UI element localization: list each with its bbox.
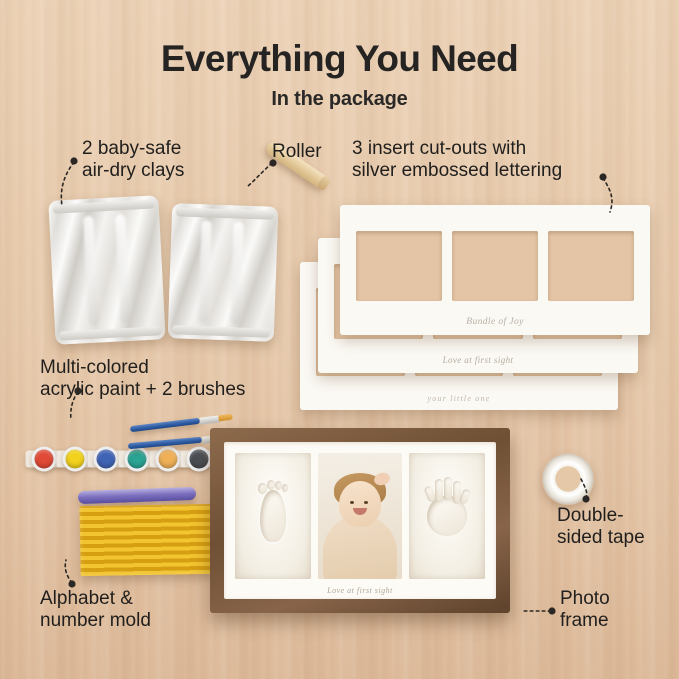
connector-dot-inserts xyxy=(599,173,606,180)
double-sided-tape-roll xyxy=(542,453,594,505)
paint-pot-strip xyxy=(28,443,214,474)
footprint-impression xyxy=(260,490,286,542)
connector-dot-clay xyxy=(70,157,77,164)
connector-alphabet xyxy=(65,560,72,583)
callout-label-roller: Roller xyxy=(272,141,322,163)
callout-label-clay: 2 baby-safe air-dry clays xyxy=(82,138,184,182)
paint-pot-blue xyxy=(90,443,121,474)
handprint-impression xyxy=(427,496,467,536)
photo-frame: Love at first sight xyxy=(210,428,510,613)
connector-roller xyxy=(248,163,272,186)
callout-label-paint: Multi-colored acrylic paint + 2 brushes xyxy=(40,357,245,401)
paint-pot-orange xyxy=(152,443,183,474)
page-subtitle: In the package xyxy=(0,88,679,111)
paint-pot-red xyxy=(28,443,59,474)
infographic-canvas: Everything You Need In the package your … xyxy=(0,0,679,679)
insert-cutout-1: Bundle of Joy xyxy=(340,205,650,335)
alphabet-number-mold xyxy=(79,504,214,576)
page-title: Everything You Need xyxy=(0,40,679,77)
clay-pouch-1 xyxy=(48,195,165,345)
purple-rolling-tool xyxy=(78,487,196,504)
insert-engraving-1: Bundle of Joy xyxy=(340,317,650,327)
callout-label-inserts: 3 insert cut-outs with silver embossed l… xyxy=(352,138,562,182)
callout-label-tape: Double- sided tape xyxy=(557,505,645,549)
footprint-slot xyxy=(235,453,311,579)
insert-engraving-3: your little one xyxy=(300,394,618,403)
paint-brush-1 xyxy=(130,418,200,432)
callout-label-alphabet: Alphabet & number mold xyxy=(40,588,151,632)
baby-photo xyxy=(318,453,403,579)
connector-dot-photo xyxy=(548,607,555,614)
handprint-slot xyxy=(409,453,485,579)
frame-caption: Love at first sight xyxy=(224,586,496,595)
insert-engraving-2: Love at first sight xyxy=(318,355,638,365)
callout-label-photo: Photo frame xyxy=(560,588,610,632)
clay-pouch-2 xyxy=(168,203,279,342)
connector-dot-alphabet xyxy=(68,580,75,587)
paint-pot-yellow xyxy=(59,443,90,474)
frame-mount: Love at first sight xyxy=(224,442,496,599)
